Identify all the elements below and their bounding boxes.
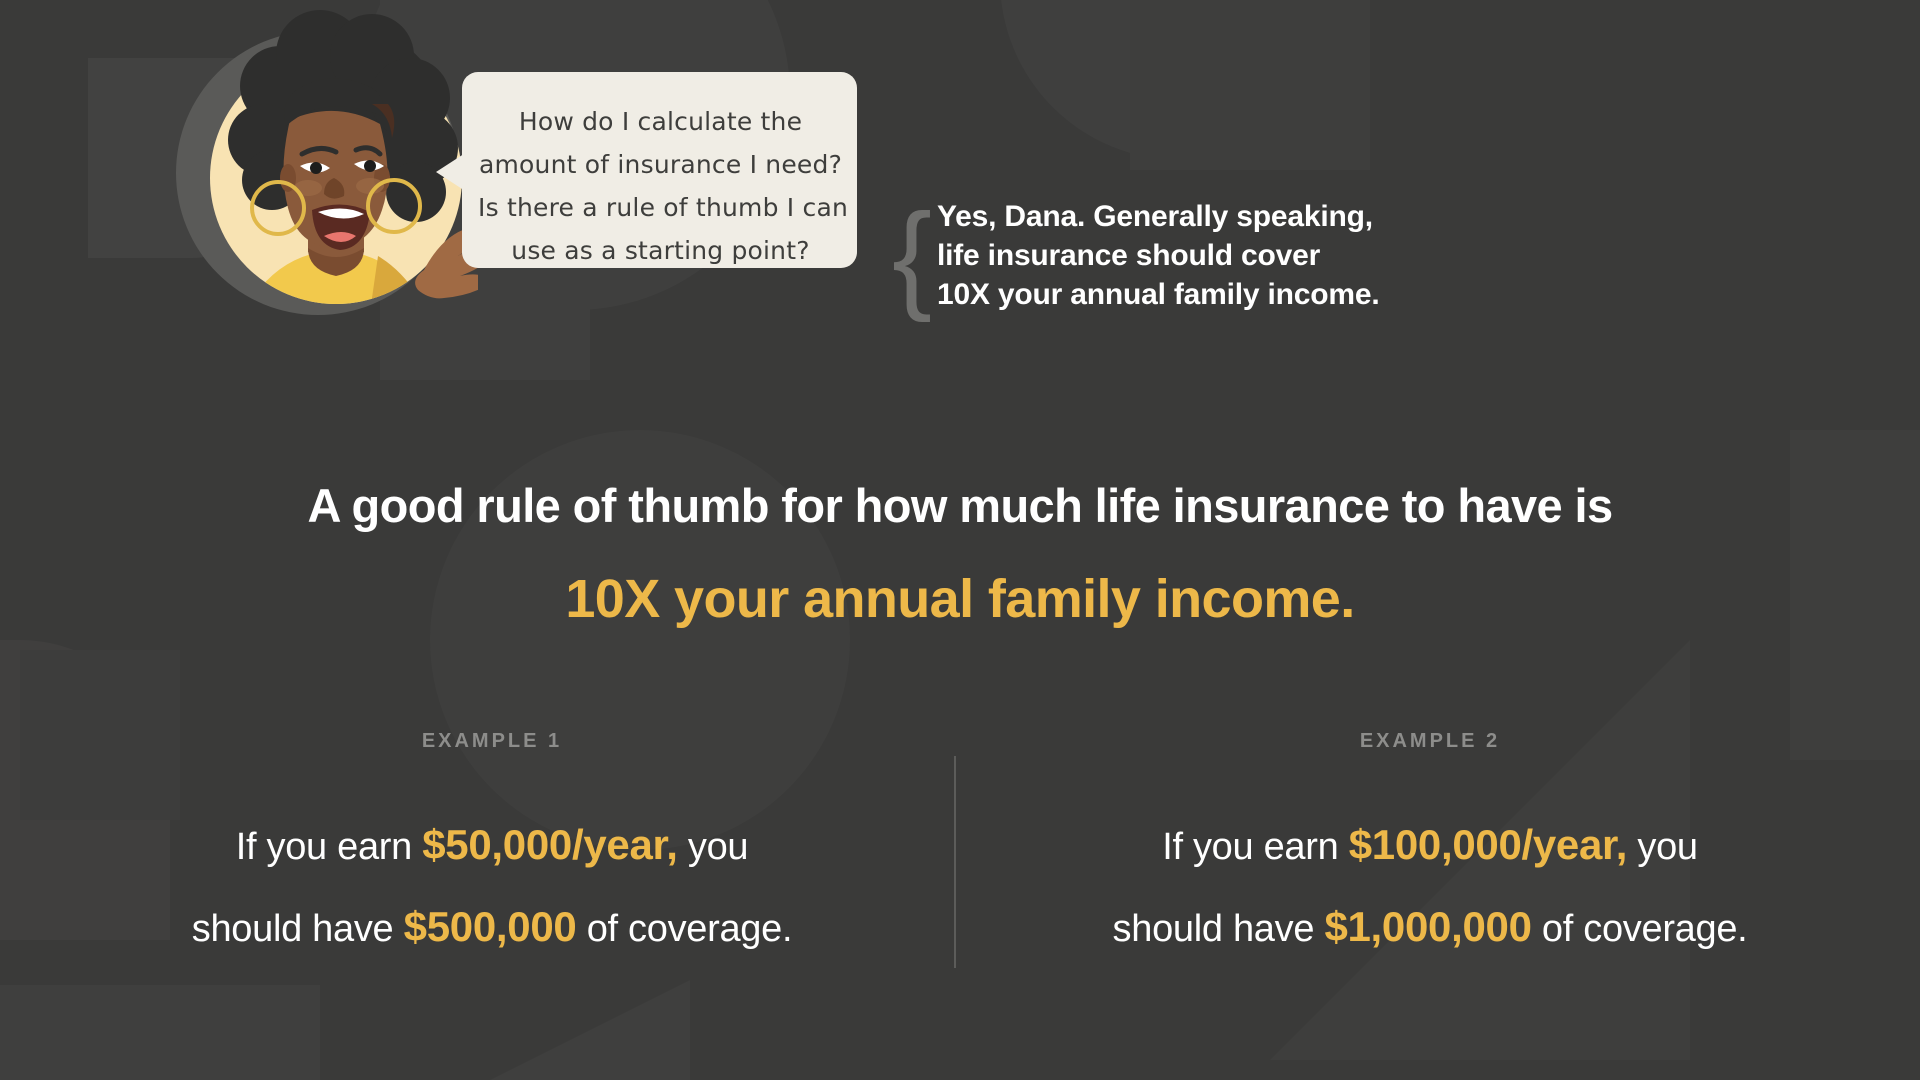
brace-icon: { [892, 196, 932, 316]
example-2: EXAMPLE 2 If you earn $100,000/year, you… [985, 730, 1875, 969]
example-2-label: EXAMPLE 2 [985, 730, 1875, 753]
answer-line-2: life insurance should cover [937, 236, 1497, 275]
question-bubble-tail-icon [436, 150, 470, 194]
dana-avatar [168, 8, 478, 326]
example-2-line-1-post: you [1627, 826, 1698, 868]
example-1-line-2: should have $500,000 of coverage. [47, 887, 937, 969]
example-2-income-amount: $100,000/year, [1349, 821, 1627, 868]
subheadline: 10X your annual family income. [0, 568, 1920, 630]
answer-line-1: Yes, Dana. Generally speaking, [937, 197, 1497, 236]
question-line-1: How do I calculate the [478, 100, 843, 143]
example-divider [954, 756, 956, 968]
bg-rect-right-top-shape [1130, 0, 1370, 170]
example-1-line-2-pre: should have [192, 908, 404, 950]
infographic-canvas: How do I calculate the amount of insuran… [0, 0, 1920, 1080]
example-1-label: EXAMPLE 1 [47, 730, 937, 753]
example-1-line-1-pre: If you earn [236, 826, 423, 868]
example-1-line-1: If you earn $50,000/year, you [47, 805, 937, 887]
answer-text: Yes, Dana. Generally speaking, life insu… [937, 197, 1497, 314]
example-1-body: If you earn $50,000/year, you should hav… [47, 805, 937, 969]
example-2-line-1-pre: If you earn [1162, 826, 1349, 868]
question-bubble-text: How do I calculate the amount of insuran… [478, 100, 843, 272]
example-2-line-1: If you earn $100,000/year, you [985, 805, 1875, 887]
bg-triangle-bottom-shape [430, 980, 690, 1080]
example-1-coverage-amount: $500,000 [404, 903, 577, 950]
bg-rect-bottom-shape [0, 985, 320, 1080]
example-2-line-2-pre: should have [1113, 908, 1325, 950]
example-1-line-2-post: of coverage. [576, 908, 792, 950]
question-line-2: amount of insurance I need? [478, 143, 843, 186]
example-2-coverage-amount: $1,000,000 [1324, 903, 1531, 950]
example-2-line-2: should have $1,000,000 of coverage. [985, 887, 1875, 969]
example-1-line-1-post: you [678, 826, 749, 868]
answer-line-3: 10X your annual family income. [937, 275, 1497, 314]
example-1: EXAMPLE 1 If you earn $50,000/year, you … [47, 730, 937, 969]
example-2-line-2-post: of coverage. [1532, 908, 1748, 950]
headline: A good rule of thumb for how much life i… [0, 478, 1920, 533]
question-line-4: use as a starting point? [478, 229, 843, 272]
example-2-body: If you earn $100,000/year, you should ha… [985, 805, 1875, 969]
avatar-illustration [168, 8, 478, 326]
question-line-3: Is there a rule of thumb I can [478, 186, 843, 229]
example-1-income-amount: $50,000/year, [422, 821, 677, 868]
